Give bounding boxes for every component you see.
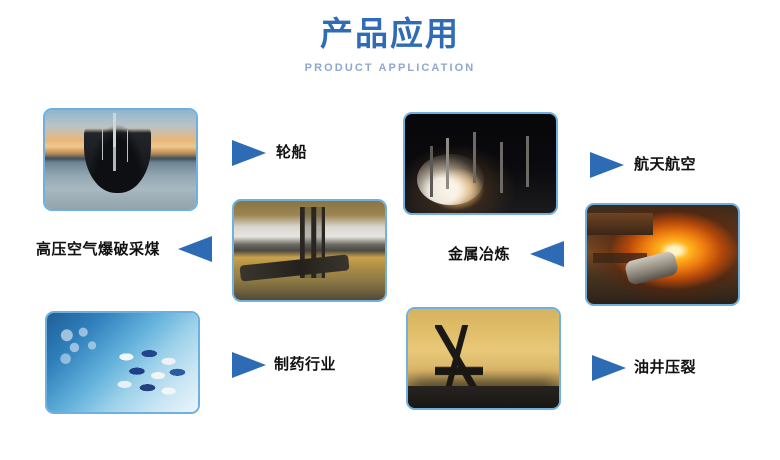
application-label-pharmaceutical: 制药行业 [274, 355, 336, 373]
ship-at-sunset-photo [45, 110, 196, 209]
application-image-oil-well-fracturing[interactable] [406, 307, 561, 410]
product-application-page: 产品应用 PRODUCT APPLICATION 轮船 高压空气爆破采煤 航天航… [0, 0, 780, 460]
application-image-metal-smelting[interactable] [585, 203, 740, 306]
application-image-aerospace[interactable] [403, 112, 558, 215]
application-image-ship[interactable] [43, 108, 198, 211]
oil-pumpjack-sunset-photo [408, 309, 559, 408]
application-label-metal-smelting: 金属冶炼 [448, 245, 510, 263]
page-header: 产品应用 PRODUCT APPLICATION [0, 14, 780, 75]
application-label-coal-mining: 高压空气爆破采煤 [36, 240, 160, 258]
arrow-right-icon-oil-well-fracturing [592, 355, 626, 381]
application-label-ship: 轮船 [276, 143, 307, 161]
arrow-left-icon-metal-smelting [530, 241, 564, 267]
arrow-left-icon-coal-mining [178, 236, 212, 262]
rocket-launch-photo [405, 114, 556, 213]
application-image-pharmaceutical[interactable] [45, 311, 200, 414]
application-image-coal-mining[interactable] [232, 199, 387, 302]
page-subtitle: PRODUCT APPLICATION [0, 61, 780, 75]
pharmaceutical-pills-capsules-photo [47, 313, 198, 412]
arrow-right-icon-pharmaceutical [232, 352, 266, 378]
application-label-aerospace: 航天航空 [634, 155, 696, 173]
arrow-right-icon-ship [232, 140, 266, 166]
open-pit-coal-mining-excavator-photo [234, 201, 385, 300]
steel-furnace-molten-metal-photo [587, 205, 738, 304]
application-label-oil-well-fracturing: 油井压裂 [634, 358, 696, 376]
page-title: 产品应用 [0, 14, 780, 54]
arrow-right-icon-aerospace [590, 152, 624, 178]
